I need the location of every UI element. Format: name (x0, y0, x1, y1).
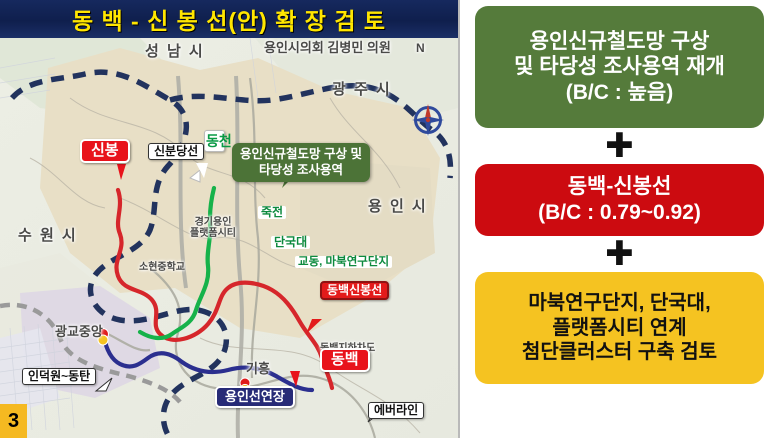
page-title: 동 백 - 신 봉 선(안) 확 장 검 토 (72, 2, 386, 36)
map-label-dongcheon[interactable]: 동천 (204, 130, 225, 152)
map-label-yonginline-ext[interactable]: 용인선연장 (215, 386, 295, 408)
summary-item-cluster[interactable]: 마북연구단지, 단국대, 플랫폼시티 연계 첨단클러스터 구축 검토 (475, 272, 764, 384)
place-label-sohyeon-school: 소현중학교 (139, 263, 185, 274)
place-label-platform-city: 경기용인 플랫폼시티 (190, 218, 236, 239)
compass-n-label: N (416, 42, 425, 55)
map-credit: 용인시의회 김병민 의원 (264, 41, 391, 55)
summary-panel: 용인신규철도망 구상 및 타당성 조사용역 재개 (B/C : 높음) ✚ 동백… (460, 0, 779, 438)
city-label-gwangju: 광 주 시 (332, 82, 392, 98)
map-label-indeogwon-dongtan[interactable]: 인덕원~동탄 (22, 368, 96, 385)
city-label-yongin: 용 인 시 (368, 199, 428, 215)
slide: 동 백 - 신 봉 선(안) 확 장 검 토 (0, 0, 779, 438)
plus-sign-1: ✚ (605, 128, 634, 164)
map-label-project-box[interactable]: 용인신규철도망 구상 및 타당성 조사용역 (232, 143, 370, 182)
map-label-gyodong-mabuk[interactable]: 교동, 마북연구단지 (295, 256, 392, 268)
summary-item-railway-study[interactable]: 용인신규철도망 구상 및 타당성 조사용역 재개 (B/C : 높음) (475, 6, 764, 128)
map-label-sinbong[interactable]: 신봉 (80, 139, 130, 163)
map-panel[interactable]: 용인시의회 김병민 의원 N 성 남 시 광 주 시 용 인 시 수 원 시 경… (0, 38, 458, 438)
city-label-suwon: 수 원 시 (18, 228, 78, 244)
summary-item-dongbaek-sinbong[interactable]: 동백-신봉선 (B/C : 0.79~0.92) (475, 164, 764, 236)
city-label-seongnam: 성 남 시 (145, 44, 205, 60)
map-label-dankook-univ[interactable]: 단국대 (271, 236, 310, 249)
slide-title-bar: 동 백 - 신 봉 선(안) 확 장 검 토 (0, 0, 458, 38)
map-label-jukjeon[interactable]: 죽전 (258, 206, 286, 219)
map-label-dongbaek[interactable]: 동백 (320, 348, 370, 372)
place-label-giheung: 기흥 (246, 362, 270, 376)
map-label-sinbundang-line[interactable]: 신분당선 (148, 143, 204, 160)
plus-sign-2: ✚ (605, 236, 634, 272)
map-label-everline[interactable]: 에버라인 (368, 402, 424, 419)
place-label-gwanggyo-jungang: 광교중앙 (55, 325, 103, 339)
map-label-dongbaek-sinbong-line[interactable]: 동백신봉선 (320, 281, 389, 300)
page-number: 3 (0, 404, 27, 438)
